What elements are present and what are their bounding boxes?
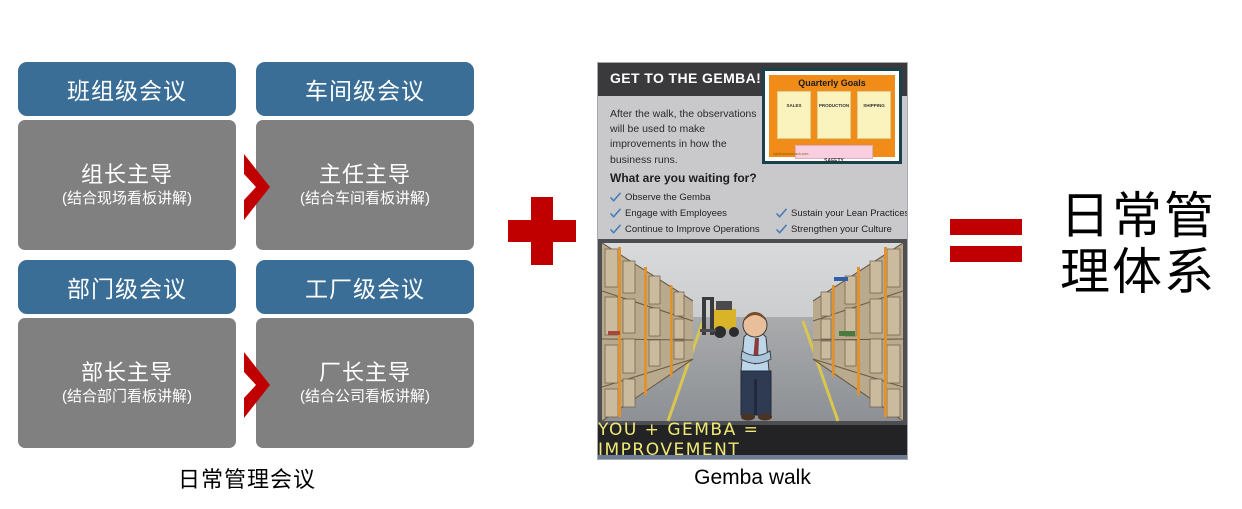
result-label: 日常管 理体系: [1060, 188, 1235, 300]
list-item: Continue to Improve Operations: [610, 223, 770, 236]
meeting-card-body: 厂长主导 (结合公司看板讲解): [256, 318, 474, 448]
goals-safety-label: SAFETY: [824, 158, 844, 164]
goals-card-label: PRODUCTION: [819, 103, 849, 108]
poster-slogan-band: YOU + GEMBA = IMPROVEMENT: [598, 425, 907, 455]
diagram-caption: 日常管理会议: [18, 462, 476, 494]
checklist-label: Sustain your Lean Practices: [791, 208, 907, 219]
checklist-label: Strengthen your Culture: [791, 224, 892, 235]
equals-operator-icon: [950, 219, 1022, 269]
checklist-label: Engage with Employees: [625, 208, 727, 219]
meeting-card-sub: (结合车间看板讲解): [300, 189, 430, 209]
poster-caption: Gemba walk: [598, 466, 907, 490]
meeting-card-sub: (结合现场看板讲解): [62, 189, 192, 209]
meeting-card-lead: 厂长主导: [319, 360, 411, 385]
goals-board-surface: Quarterly Goals SALES PRODUCTION SHIPPIN…: [768, 74, 896, 158]
meeting-card-lead: 主任主导: [319, 162, 411, 187]
warehouse-aisle-illustration: [598, 239, 907, 425]
goals-card: PRODUCTION: [817, 91, 851, 139]
plus-operator-icon: [508, 197, 576, 265]
check-icon: [776, 224, 787, 235]
list-item: Observe the Gemba: [610, 191, 770, 204]
goals-board-title: Quarterly Goals: [769, 78, 895, 88]
meeting-card-workshop-level[interactable]: 车间级会议 主任主导 (结合车间看板讲解): [256, 62, 474, 250]
checklist-column-right: Sustain your Lean Practices Strengthen y…: [776, 191, 907, 239]
goals-board-inner: Quarterly Goals SALES PRODUCTION SHIPPIN…: [765, 71, 899, 161]
poster-footer-bar: [598, 455, 907, 459]
plus-vertical-bar: [531, 197, 553, 265]
gemba-walk-poster[interactable]: GET TO THE GEMBA! After the walk, the ob…: [598, 63, 907, 459]
meeting-card-sub: (结合部门看板讲解): [62, 387, 192, 407]
meeting-card-header: 班组级会议: [18, 62, 236, 116]
meeting-card-header: 工厂级会议: [256, 260, 474, 314]
checklist-label: Continue to Improve Operations: [625, 224, 760, 235]
goals-card: SHIPPING: [857, 91, 891, 139]
poster-title: GET TO THE GEMBA!: [610, 70, 761, 86]
goals-board-credit: rightbrainedcoach.com: [773, 152, 808, 156]
quarterly-goals-board: Quarterly Goals SALES PRODUCTION SHIPPIN…: [762, 68, 902, 164]
goals-card-label: SALES: [786, 103, 801, 108]
meeting-card-body: 部长主导 (结合部门看板讲解): [18, 318, 236, 448]
meeting-card-body: 主任主导 (结合车间看板讲解): [256, 120, 474, 250]
check-icon: [610, 208, 621, 219]
poster-slogan-text: YOU + GEMBA = IMPROVEMENT: [598, 420, 907, 459]
list-item: Strengthen your Culture: [776, 223, 907, 236]
meeting-card-lead: 组长主导: [81, 162, 173, 187]
meeting-card-lead: 部长主导: [81, 360, 173, 385]
daily-management-meeting-diagram: 班组级会议 组长主导 (结合现场看板讲解) 车间级会议 主任主导 (结合车间看板…: [18, 62, 476, 452]
check-icon: [776, 208, 787, 219]
meeting-card-factory-level[interactable]: 工厂级会议 厂长主导 (结合公司看板讲解): [256, 260, 474, 448]
chevron-right-icon: [240, 350, 274, 420]
check-icon: [610, 224, 621, 235]
goals-card-row: SALES PRODUCTION SHIPPING: [777, 91, 891, 139]
goals-card: SALES: [777, 91, 811, 139]
checklist-label: Observe the Gemba: [625, 192, 711, 203]
list-item: Sustain your Lean Practices: [776, 207, 907, 220]
list-item: Engage with Employees: [610, 207, 770, 220]
poster-body-text: After the walk, the observations will be…: [610, 107, 765, 168]
meeting-card-header: 部门级会议: [18, 260, 236, 314]
checklist-column-left: Observe the Gemba Engage with Employees …: [610, 191, 770, 239]
meeting-card-team-level[interactable]: 班组级会议 组长主导 (结合现场看板讲解): [18, 62, 236, 250]
chevron-right-icon: [240, 152, 274, 222]
equals-top-bar: [950, 219, 1022, 235]
meeting-card-sub: (结合公司看板讲解): [300, 387, 430, 407]
meeting-card-body: 组长主导 (结合现场看板讲解): [18, 120, 236, 250]
result-line-2: 理体系: [1060, 244, 1235, 300]
check-icon: [610, 192, 621, 203]
goals-card-label: SHIPPING: [863, 103, 885, 108]
result-line-1: 日常管: [1060, 188, 1235, 244]
meeting-card-header: 车间级会议: [256, 62, 474, 116]
poster-question: What are you waiting for?: [610, 171, 757, 185]
meeting-card-department-level[interactable]: 部门级会议 部长主导 (结合部门看板讲解): [18, 260, 236, 448]
equals-bottom-bar: [950, 246, 1022, 262]
